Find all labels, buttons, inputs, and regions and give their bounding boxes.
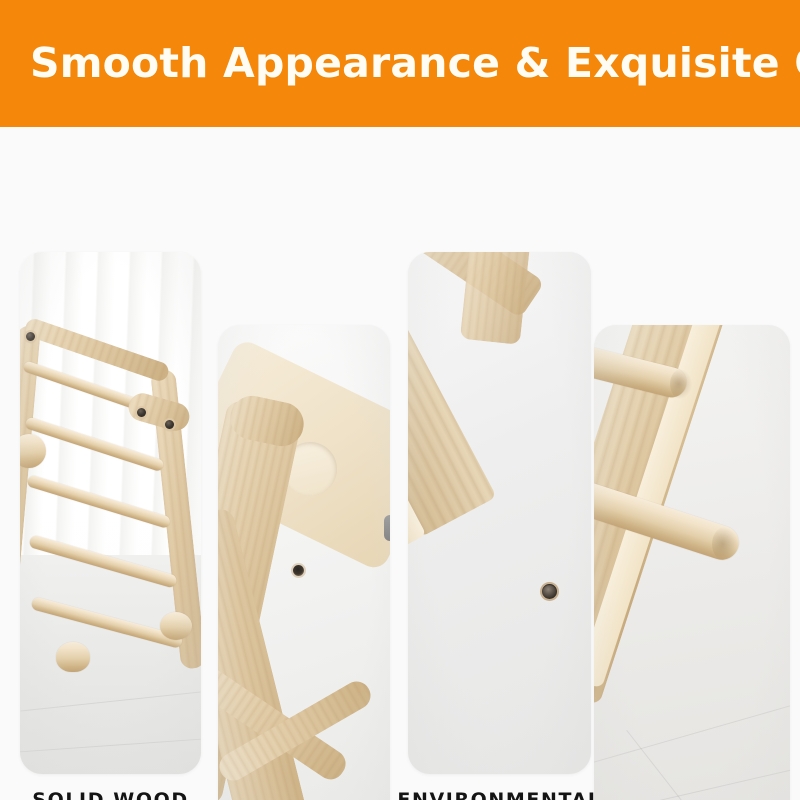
- anticollision-photo: [594, 325, 790, 800]
- environmental-photo: [408, 252, 591, 774]
- screw-hole: [293, 565, 304, 576]
- ladder-assembly: [20, 312, 201, 692]
- ladder-rung: [26, 474, 171, 529]
- page-title: Smooth Appearance & Exquisite Craft: [30, 43, 800, 84]
- feature-panel-safety[interactable]: SAFETY: [218, 325, 390, 800]
- ladder-rung: [24, 416, 165, 472]
- solid-wood-photo: [20, 252, 201, 774]
- dowel-socket-shadow: [712, 527, 738, 561]
- ladder-foot: [20, 434, 46, 468]
- joint-assembly: [218, 347, 390, 800]
- panel-caption-solid-wood: SOLID WOOD: [20, 778, 201, 800]
- pivot-bolt: [26, 332, 35, 341]
- metal-bracket: [384, 515, 390, 541]
- feature-panel-grid: SOLID WOOD: [0, 127, 800, 800]
- metal-screw: [542, 584, 557, 599]
- ladder-rung: [28, 534, 178, 588]
- pivot-bolt: [137, 408, 146, 417]
- rail-and-rungs: [594, 325, 790, 765]
- product-feature-graphic: Smooth Appearance & Exquisite Craft: [0, 0, 800, 800]
- dowel-socket-shadow: [670, 369, 692, 399]
- header-banner: Smooth Appearance & Exquisite Craft: [0, 0, 800, 127]
- ladder-foot: [56, 642, 90, 672]
- safety-photo: [218, 325, 390, 800]
- feature-panel-solid-wood[interactable]: SOLID WOOD: [20, 252, 201, 800]
- pivot-bolt: [165, 420, 174, 429]
- ladder-foot: [160, 612, 192, 640]
- feature-panel-environmental[interactable]: ENVIRONMENTAL: [408, 252, 591, 800]
- feature-panel-anticollision[interactable]: ANTICOLLISON: [594, 325, 790, 800]
- panel-caption-environmental: ENVIRONMENTAL: [408, 778, 591, 800]
